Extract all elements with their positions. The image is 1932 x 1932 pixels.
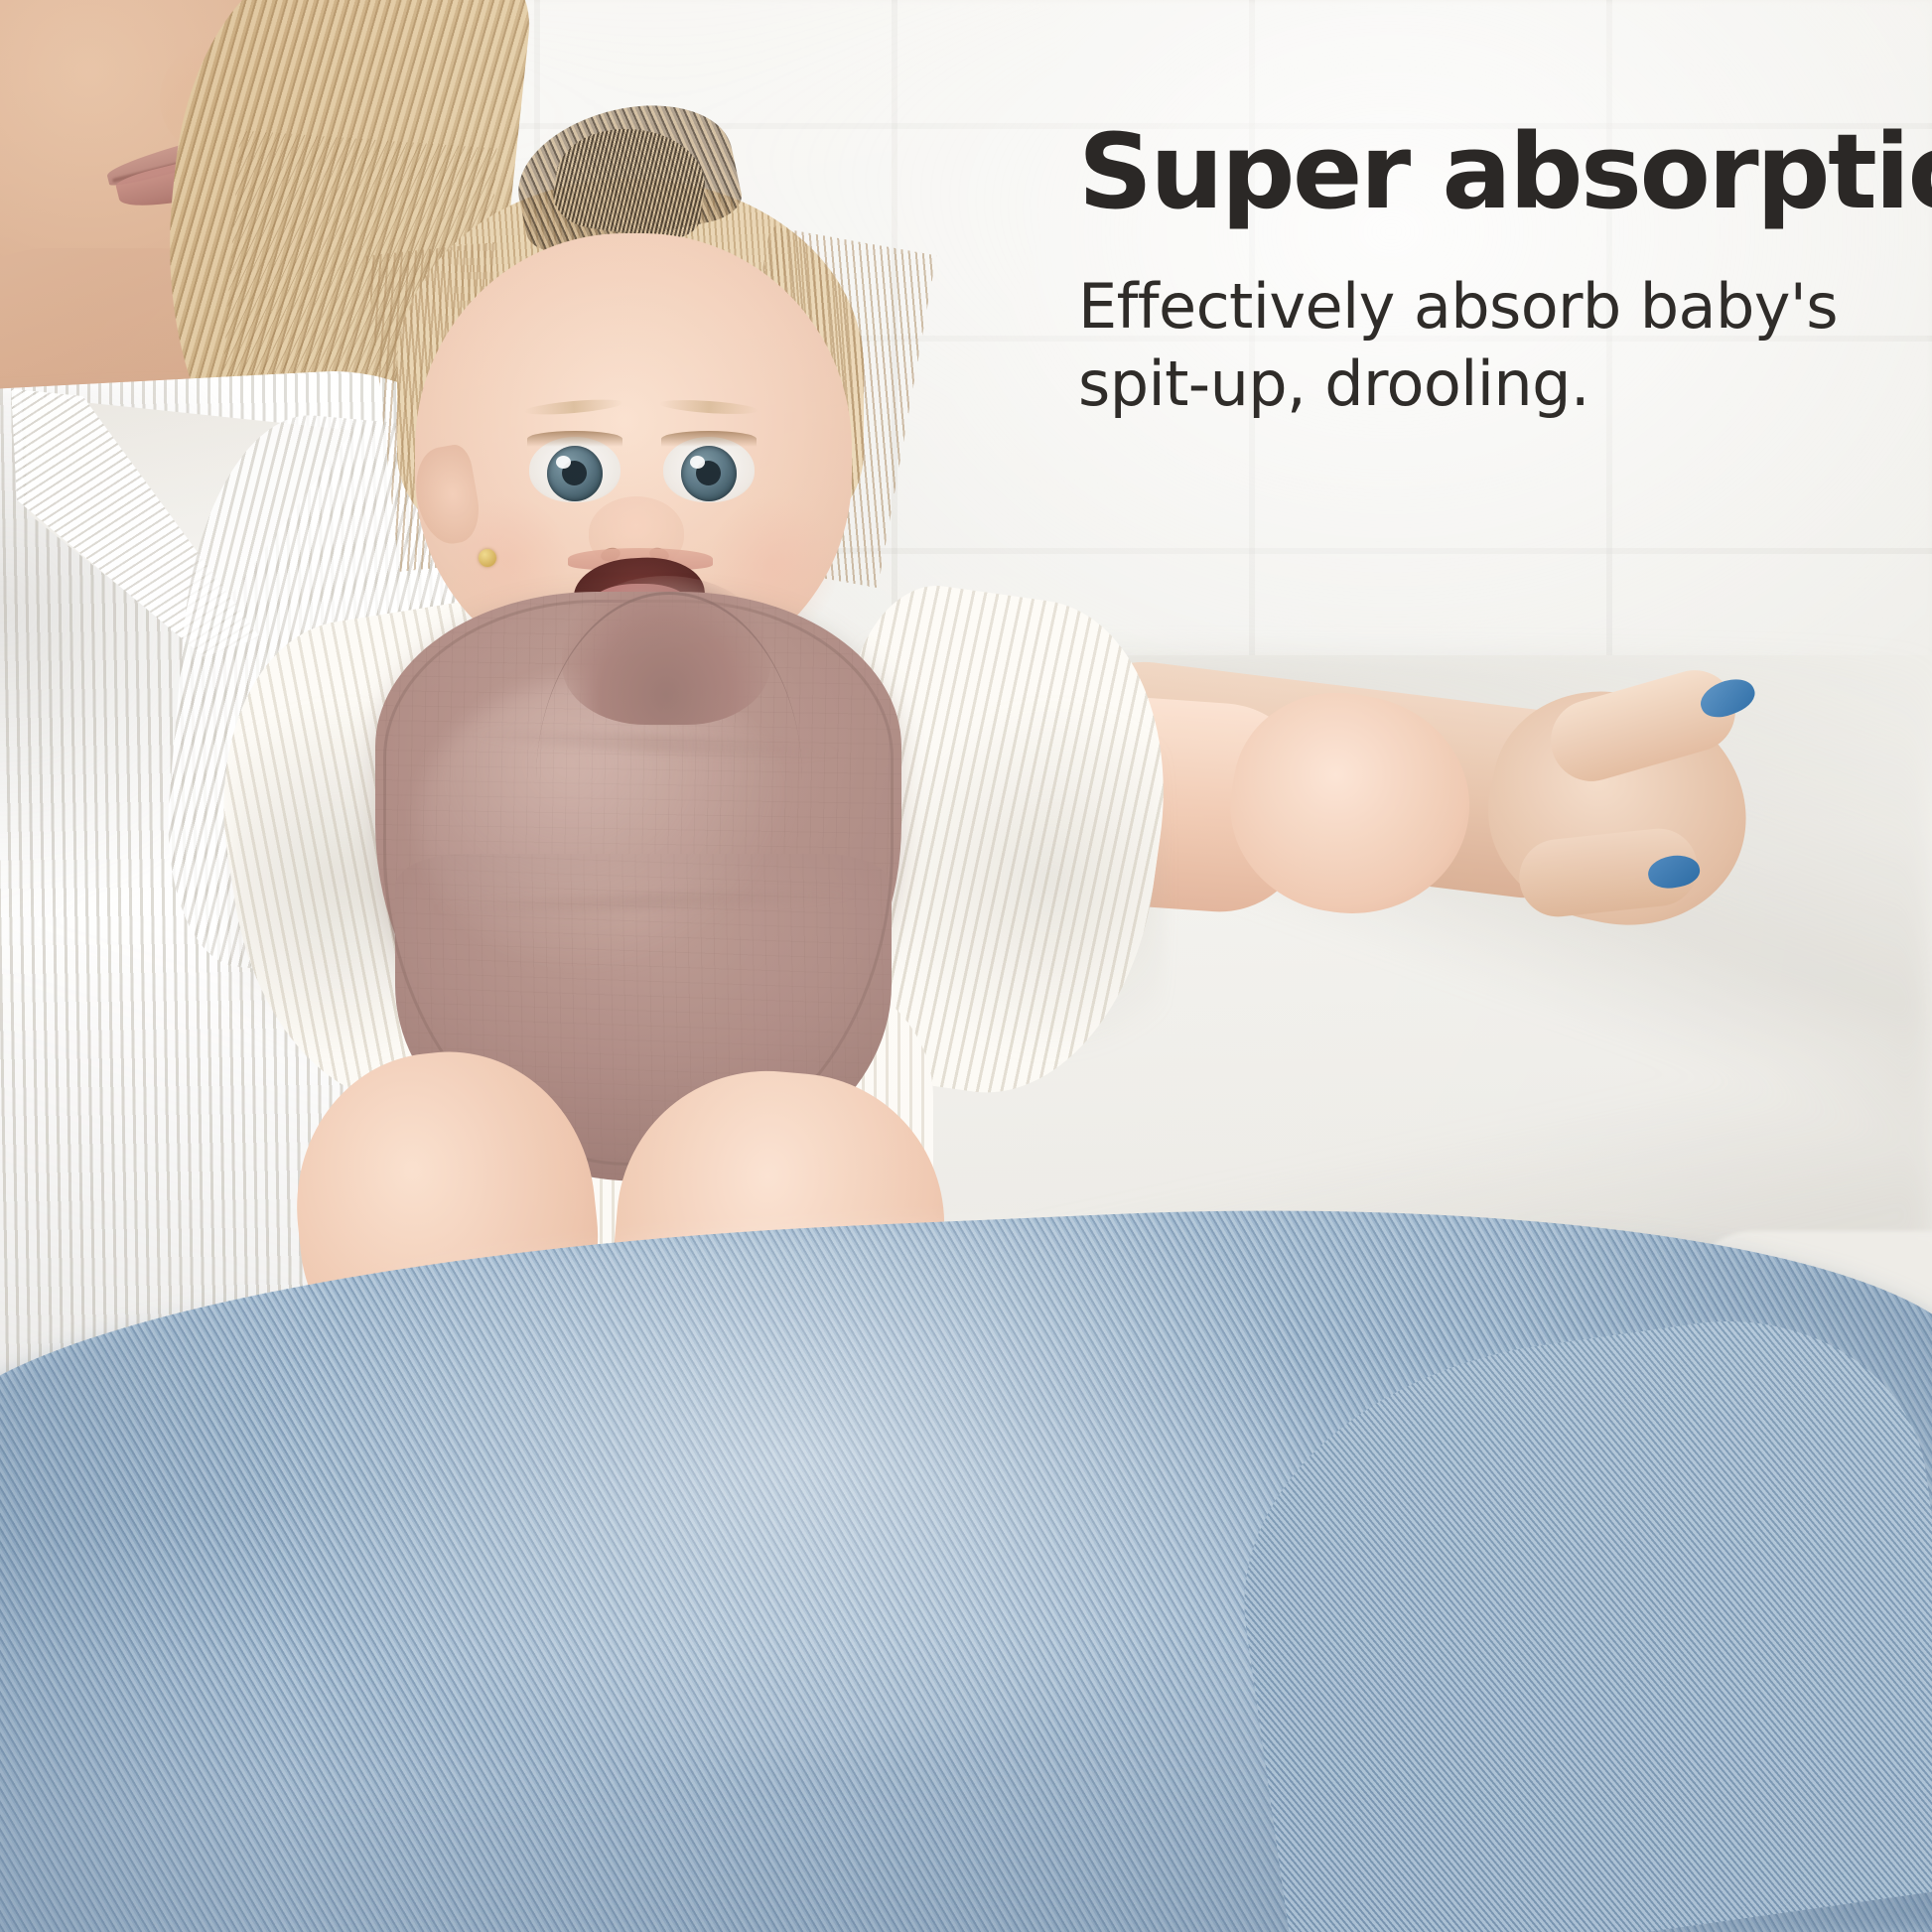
- baby-eyelash-left: [527, 431, 622, 447]
- earring-icon: [479, 549, 496, 567]
- baby-eye-glint-right: [690, 456, 705, 469]
- subtitle-line-1: Effectively absorb baby's: [1078, 268, 1843, 345]
- marketing-image-canvas: Super absorption Effectively absorb baby…: [0, 0, 1932, 1932]
- subtitle: Effectively absorb baby's spit-up, drool…: [1078, 268, 1843, 423]
- marketing-copy-block: Super absorption Effectively absorb baby…: [1078, 119, 1902, 423]
- subtitle-line-2: spit-up, drooling.: [1078, 345, 1843, 423]
- baby-eyelash-right: [661, 431, 757, 447]
- headline: Super absorption: [1078, 119, 1902, 224]
- baby-eye-glint-left: [556, 456, 571, 469]
